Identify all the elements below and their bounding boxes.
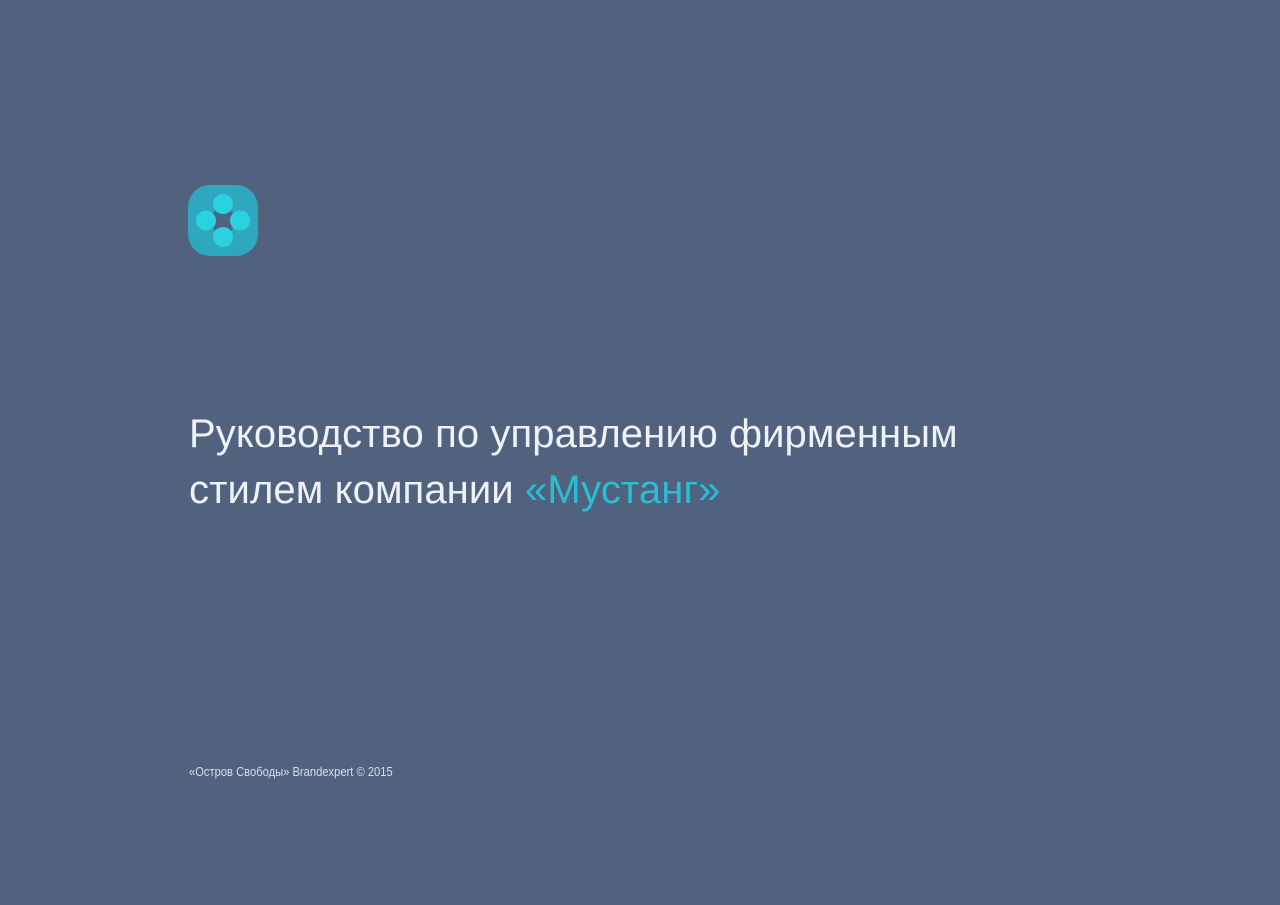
title-slide: Руководство по управлению фирменным стил… [0,0,1280,905]
footer-credit: «Остров Свободы» Brandexpert © 2015 [189,763,393,781]
logo-dot-top [213,194,233,214]
title-line-2-prefix: стилем компании [189,468,525,512]
logo-dot-left [196,211,216,231]
logo-dot-right [230,211,250,231]
brand-logo-icon [188,185,258,256]
title-line-2: стилем компании «Мустанг» [189,462,1089,518]
logo-dot-bottom [213,227,233,247]
brand-logo [188,185,258,256]
page-title: Руководство по управлению фирменным стил… [189,406,1089,518]
brand-name: «Мустанг» [525,468,721,512]
title-line-1: Руководство по управлению фирменным [189,406,1089,462]
